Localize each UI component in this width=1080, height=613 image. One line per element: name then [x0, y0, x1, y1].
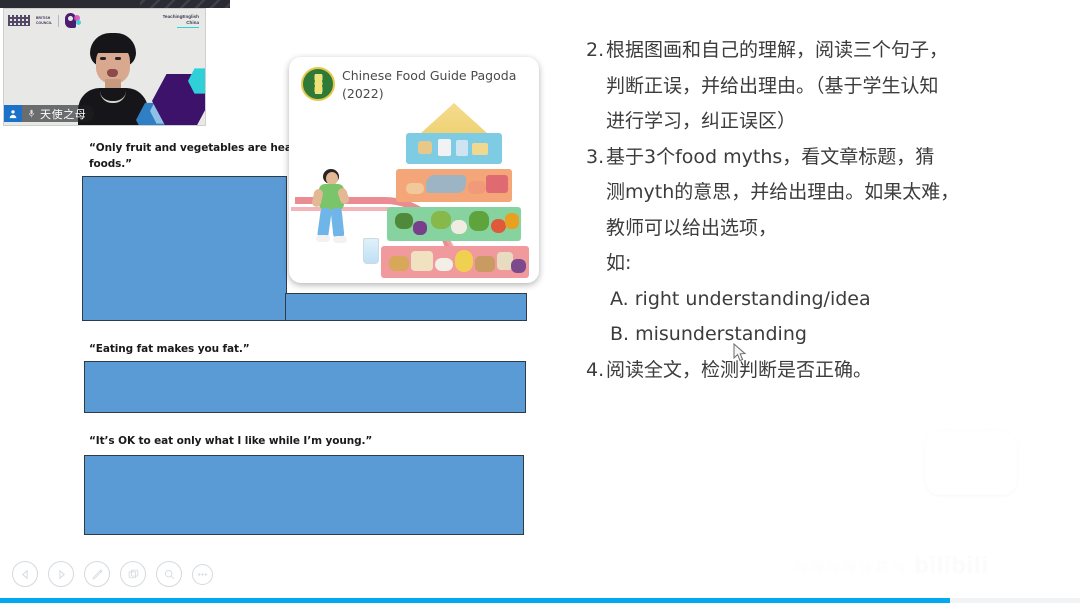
next-slide-button[interactable]	[48, 561, 74, 587]
user-icon	[4, 105, 22, 122]
myth-statement-1: “Only fruit and vegetables are healthy f…	[89, 140, 319, 173]
teaching-english-brand: TeachingEnglish China	[163, 14, 199, 28]
brand-underline	[177, 27, 199, 28]
pagoda-title: Chinese Food Guide Pagoda (2022)	[342, 67, 533, 103]
pagoda-tier-fish-meat-eggs	[396, 169, 512, 202]
video-player: BRITISH COUNCIL TeachingEnglish China	[0, 0, 1080, 613]
instruction-2-line-2: 判断正误，并给出理由。（基于学生认知	[606, 75, 939, 97]
mouse-cursor	[733, 343, 747, 363]
pagoda-tier-grains-and-tubers	[381, 246, 529, 278]
presenter-webcam-overlay[interactable]: BRITISH COUNCIL TeachingEnglish China	[3, 8, 206, 126]
answer-box-2[interactable]	[84, 361, 526, 413]
brand-line-1: TeachingEnglish	[163, 14, 199, 19]
instruction-2-line-3: 进行学习，纠正误区）	[606, 110, 796, 132]
instruction-3-line-4: 如:	[606, 252, 631, 274]
myth-statement-3: “It’s OK to eat only what I like while I…	[89, 433, 389, 449]
instruction-2-line-1: 根据图画和自己的理解，阅读三个句子，	[606, 39, 948, 61]
british-council-wordmark: BRITISH COUNCIL	[36, 16, 52, 25]
answer-box-1-extension[interactable]	[285, 293, 527, 321]
chevron-pattern-icon	[140, 0, 230, 8]
player-toolbar	[0, 552, 1080, 596]
instruction-item-2: 2. 根据图画和自己的理解，阅读三个句子， 判断正误，并给出理由。（基于学生认知…	[586, 33, 1056, 140]
answer-box-3[interactable]	[84, 455, 524, 535]
instruction-option-b: B. misunderstanding	[586, 317, 1056, 353]
more-options-button[interactable]	[192, 564, 213, 585]
chinese-food-guide-pagoda-card: Chinese Food Guide Pagoda (2022)	[289, 57, 539, 283]
pen-tool-button[interactable]	[84, 561, 110, 587]
instruction-3-line-2: 测myth的意思，并给出理由。如果太难，	[606, 181, 959, 203]
chevron-right-icon	[55, 568, 68, 581]
chevron-left-icon	[19, 568, 32, 581]
instruction-item-3: 3. 基于3个food myths，看文章标题，猜 测myth的意思，并给出理由…	[586, 140, 1056, 282]
logo-divider	[58, 15, 59, 27]
webcam-branding: BRITISH COUNCIL	[8, 13, 81, 28]
instruction-item-4: 4. 阅读全文，检测判断是否正确。	[586, 353, 1056, 389]
instruction-panel: 2. 根据图画和自己的理解，阅读三个句子， 判断正误，并给出理由。（基于学生认知…	[586, 33, 1056, 388]
bilibili-tv-icon	[925, 413, 1017, 495]
ellipsis-icon	[196, 568, 209, 581]
zoom-button[interactable]	[156, 561, 182, 587]
instruction-number-4: 4.	[586, 353, 606, 389]
myth-statement-2: “Eating fat makes you fat.”	[89, 341, 349, 357]
instruction-3-line-1: 基于3个food myths，看文章标题，猜	[606, 146, 934, 168]
previous-slide-button[interactable]	[12, 561, 38, 587]
slides-panel-button[interactable]	[120, 561, 146, 587]
pen-icon	[91, 568, 104, 581]
instruction-option-a: A. right understanding/idea	[586, 282, 1056, 318]
answer-box-1[interactable]	[82, 176, 287, 321]
instruction-3-line-3: 教师可以给出选项，	[606, 217, 777, 239]
slides-icon	[127, 568, 140, 581]
pagoda-tier-stack	[381, 103, 529, 273]
participant-name: 天使之母	[40, 106, 86, 122]
bottom-padding	[0, 603, 1080, 613]
pagoda-tier-vegetables-and-fruit	[387, 207, 521, 241]
running-person-icon	[313, 169, 353, 247]
pagoda-tier-dairy-and-nuts	[406, 133, 502, 164]
magnifier-icon	[163, 568, 176, 581]
british-council-logo-icon	[8, 15, 30, 26]
wheat-emblem-icon	[301, 67, 335, 101]
instruction-number-3: 3.	[586, 140, 606, 176]
microphone-icon	[27, 108, 36, 119]
participant-nametag: 天使之母	[4, 105, 94, 122]
pagoda-tier-oils-and-salt	[421, 103, 487, 133]
instruction-4-line-1: 阅读全文，检测判断是否正确。	[606, 353, 1056, 389]
brand-line-2: China	[186, 20, 199, 25]
nametag-pill: 天使之母	[22, 105, 94, 122]
video-letterbox-strip	[0, 0, 230, 8]
water-glass-icon	[363, 238, 379, 264]
instruction-number-2: 2.	[586, 33, 606, 69]
nine-anniversary-logo-icon	[65, 13, 81, 28]
